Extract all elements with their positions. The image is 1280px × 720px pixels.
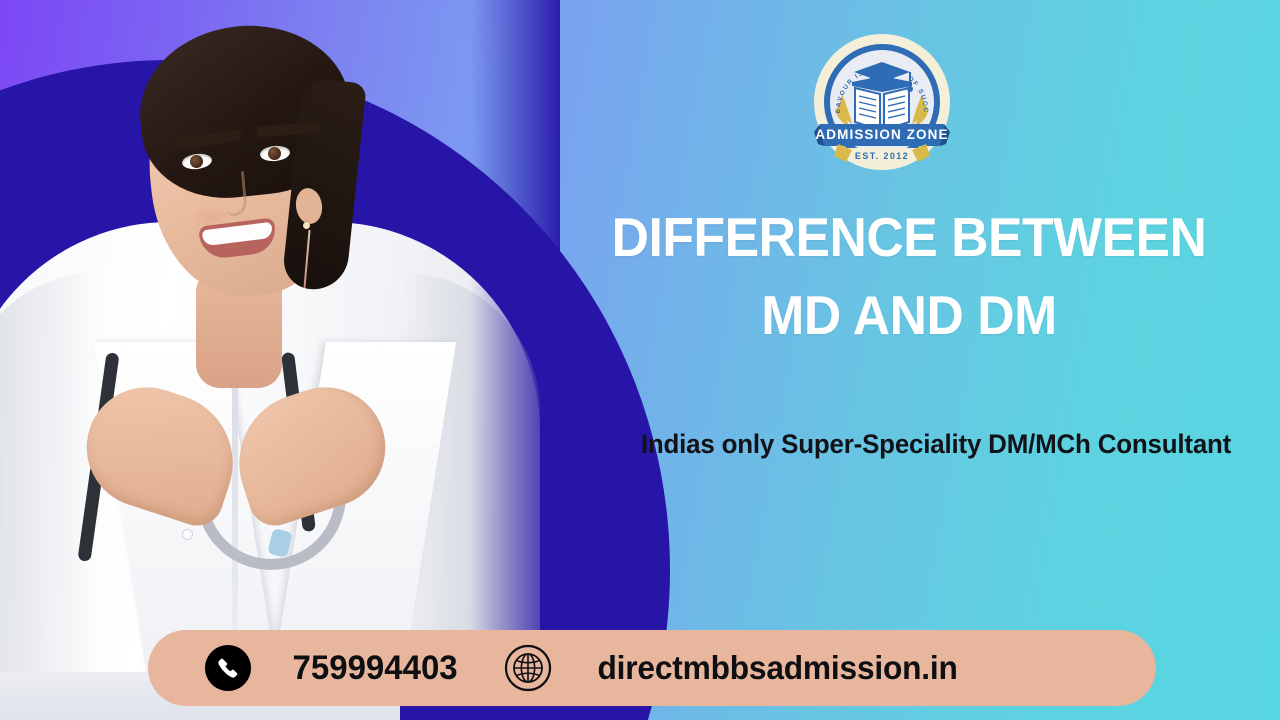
logo-name-text: ADMISSION ZONE (815, 127, 948, 142)
contact-bar: 759994403 directmbbsadmission.in (148, 630, 1156, 706)
doctor-iris-left (190, 155, 203, 168)
doctor-earring (303, 222, 310, 229)
doctor-iris-right (268, 147, 281, 160)
website-url: directmbbsadmission.in (598, 649, 958, 687)
photo-edge-fade (470, 0, 560, 720)
banner-title-line-2: MD AND DM (568, 276, 1250, 354)
banner-title-line-1: DIFFERENCE BETWEEN (568, 198, 1250, 276)
doctor-teeth (202, 222, 273, 246)
lab-coat-button (182, 529, 193, 540)
admission-zone-logo: ENDEAVOUR IS THE KEY OF SUCCESS ADMISSIO… (812, 32, 952, 172)
doctor-photo (0, 0, 560, 720)
globe-icon (504, 644, 552, 692)
banner-title: DIFFERENCE BETWEEN MD AND DM (568, 198, 1250, 354)
promotional-banner: ENDEAVOUR IS THE KEY OF SUCCESS ADMISSIO… (0, 0, 1280, 720)
phone-icon (205, 645, 251, 691)
contact-website-group[interactable]: directmbbsadmission.in (504, 644, 965, 692)
contact-phone-group[interactable]: 759994403 (205, 645, 460, 691)
lab-coat-shadow-left (0, 272, 100, 672)
doctor-nose (224, 171, 248, 217)
banner-subtitle: Indias only Super-Speciality DM/MCh Cons… (613, 424, 1258, 465)
phone-number: 759994403 (293, 649, 458, 688)
logo-established-text: EST. 2012 (855, 151, 909, 161)
